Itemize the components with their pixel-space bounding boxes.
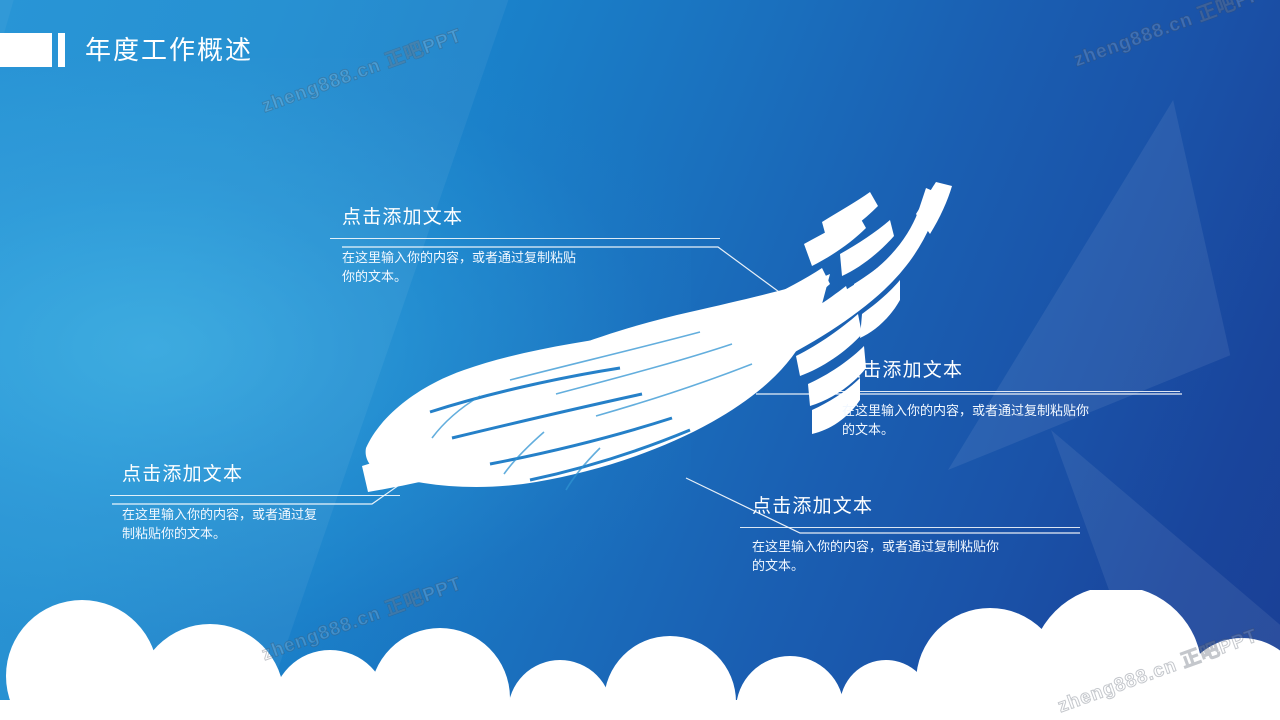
callout-body: 在这里输入你的内容，或者通过复制粘贴你的文本。 bbox=[830, 401, 1180, 439]
callout-body: 在这里输入你的内容，或者通过复制粘贴你的文本。 bbox=[110, 505, 400, 543]
callout-rule bbox=[740, 527, 1080, 528]
callout-title: 点击添加文本 bbox=[330, 205, 720, 231]
slide-canvas: 年度工作概述 bbox=[0, 0, 1280, 720]
callout-right[interactable]: 点击添加文本 在这里输入你的内容，或者通过复制粘贴你的文本。 bbox=[830, 358, 1180, 439]
slide-header: 年度工作概述 bbox=[0, 0, 1280, 92]
callout-rule bbox=[110, 495, 400, 496]
callout-title: 点击添加文本 bbox=[830, 358, 1180, 384]
header-bar-icon bbox=[58, 33, 65, 67]
callout-title: 点击添加文本 bbox=[110, 462, 400, 488]
page-title: 年度工作概述 bbox=[85, 33, 253, 67]
cloud-decoration bbox=[0, 590, 1280, 720]
header-block-icon bbox=[0, 33, 52, 67]
callout-title: 点击添加文本 bbox=[740, 494, 1080, 520]
callout-body: 在这里输入你的内容，或者通过复制粘贴你的文本。 bbox=[330, 248, 720, 286]
callout-rule bbox=[330, 238, 720, 239]
callout-top-left[interactable]: 点击添加文本 在这里输入你的内容，或者通过复制粘贴你的文本。 bbox=[330, 205, 720, 286]
callout-bottom-left[interactable]: 点击添加文本 在这里输入你的内容，或者通过复制粘贴你的文本。 bbox=[110, 462, 400, 543]
callout-rule bbox=[830, 391, 1180, 392]
callout-bottom-right[interactable]: 点击添加文本 在这里输入你的内容，或者通过复制粘贴你的文本。 bbox=[740, 494, 1080, 575]
callout-body: 在这里输入你的内容，或者通过复制粘贴你的文本。 bbox=[740, 537, 1080, 575]
